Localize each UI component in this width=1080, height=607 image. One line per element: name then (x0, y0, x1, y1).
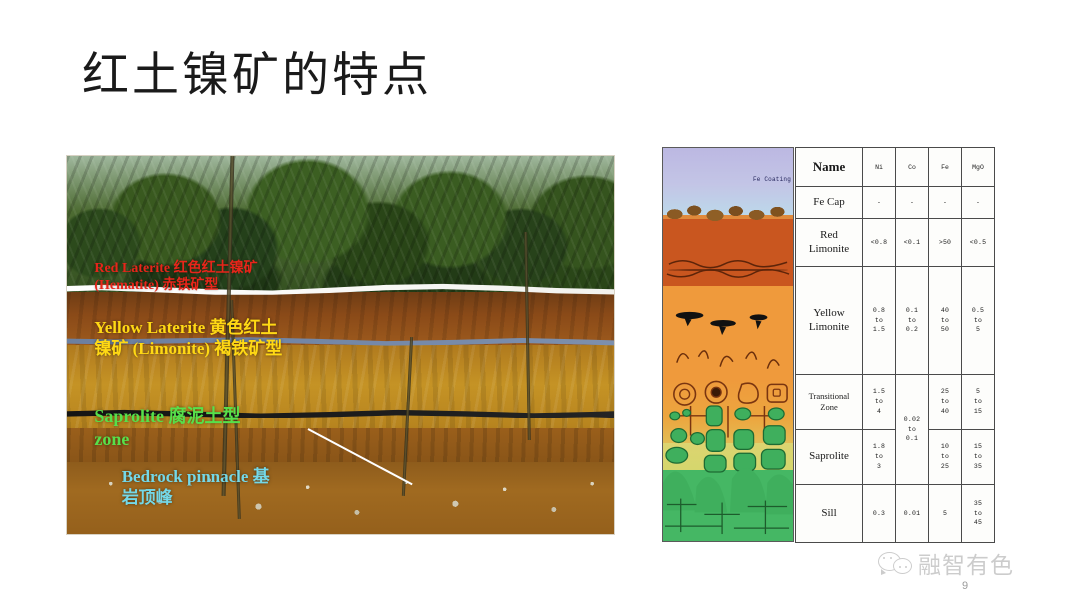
table-header-row: Name Ni Co Fe MgO (796, 148, 995, 187)
cell-sill-co: 0.01 (896, 485, 929, 543)
column-header-fe: Fe (929, 148, 962, 187)
cell-sill-mgo: 35 to 45 (962, 485, 995, 543)
row-name-yellow-limonite: Yellow Limonite (796, 267, 863, 375)
cell-red-limonite-fe: >50 (929, 219, 962, 267)
table-row-red-limonite: Red Limonite <0.8 <0.1 >50 <0.5 (796, 219, 995, 267)
column-header-mgo: MgO (962, 148, 995, 187)
laterite-composition-table: Name Ni Co Fe MgO Fe Cap - - - - Red Lim… (795, 147, 995, 543)
row-name-sill: Sill (796, 485, 863, 543)
row-name-red-limonite: Red Limonite (796, 219, 863, 267)
row-name-saprolite: Saprolite (796, 430, 863, 485)
cell-transitional-zone-ni: 1.5 to 4 (863, 375, 896, 430)
cell-transitional-saprolite-co: 0.02 to 0.1 (896, 375, 929, 485)
cell-yellow-limonite-fe: 40 to 50 (929, 267, 962, 375)
wechat-icon (878, 552, 912, 574)
profile-sketch-overlay (663, 148, 793, 537)
cell-fe-cap-mgo: - (962, 187, 995, 219)
cell-fe-cap-fe: - (929, 187, 962, 219)
annotation-saprolite: Saprolite 腐泥土型 zone (94, 405, 240, 450)
laterite-profile-diagram: Fe Coating (662, 147, 794, 542)
cell-transitional-zone-fe: 25 to 40 (929, 375, 962, 430)
cell-yellow-limonite-co: 0.1 to 0.2 (896, 267, 929, 375)
page-title: 红土镍矿的特点 (82, 48, 432, 104)
page-number: 9 (962, 580, 968, 592)
watermark: 融智有色 (878, 546, 1014, 580)
column-header-name: Name (796, 148, 863, 187)
annotation-yellow-laterite: Yellow Laterite 黄色红土 镍矿 (Limonite) 褐铁矿型 (94, 317, 282, 360)
table-row-sill: Sill 0.3 0.01 5 35 to 45 (796, 485, 995, 543)
row-name-fe-cap: Fe Cap (796, 187, 863, 219)
table-row-transitional-zone: Transitional Zone 1.5 to 4 0.02 to 0.1 2… (796, 375, 995, 430)
cell-yellow-limonite-ni: 0.8 to 1.5 (863, 267, 896, 375)
fe-coating-label: Fe Coating (753, 176, 791, 183)
cell-sill-fe: 5 (929, 485, 962, 543)
cell-yellow-limonite-mgo: 0.5 to 5 (962, 267, 995, 375)
cell-fe-cap-co: - (896, 187, 929, 219)
cell-red-limonite-co: <0.1 (896, 219, 929, 267)
cell-transitional-zone-mgo: 5 to 15 (962, 375, 995, 430)
cell-saprolite-mgo: 15 to 35 (962, 430, 995, 485)
cell-saprolite-ni: 1.8 to 3 (863, 430, 896, 485)
column-header-ni: Ni (863, 148, 896, 187)
table-row-fe-cap: Fe Cap - - - - (796, 187, 995, 219)
cell-saprolite-fe: 10 to 25 (929, 430, 962, 485)
cell-fe-cap-ni: - (863, 187, 896, 219)
table-row-saprolite: Saprolite 1.8 to 3 10 to 25 15 to 35 (796, 430, 995, 485)
cell-red-limonite-ni: <0.8 (863, 219, 896, 267)
annotation-red-laterite: Red Laterite 红色红土镍矿 (Hematite) 赤铁矿型 (94, 260, 257, 295)
cell-red-limonite-mgo: <0.5 (962, 219, 995, 267)
annotation-bedrock-pinnacle: Bedrock pinnacle 基 岩顶峰 (122, 466, 270, 509)
cell-sill-ni: 0.3 (863, 485, 896, 543)
column-header-co: Co (896, 148, 929, 187)
laterite-mine-photo: Red Laterite 红色红土镍矿 (Hematite) 赤铁矿型 Yell… (66, 155, 615, 535)
table-row-yellow-limonite: Yellow Limonite 0.8 to 1.5 0.1 to 0.2 40… (796, 267, 995, 375)
watermark-text: 融智有色 (918, 546, 1014, 580)
row-name-transitional-zone: Transitional Zone (796, 375, 863, 430)
